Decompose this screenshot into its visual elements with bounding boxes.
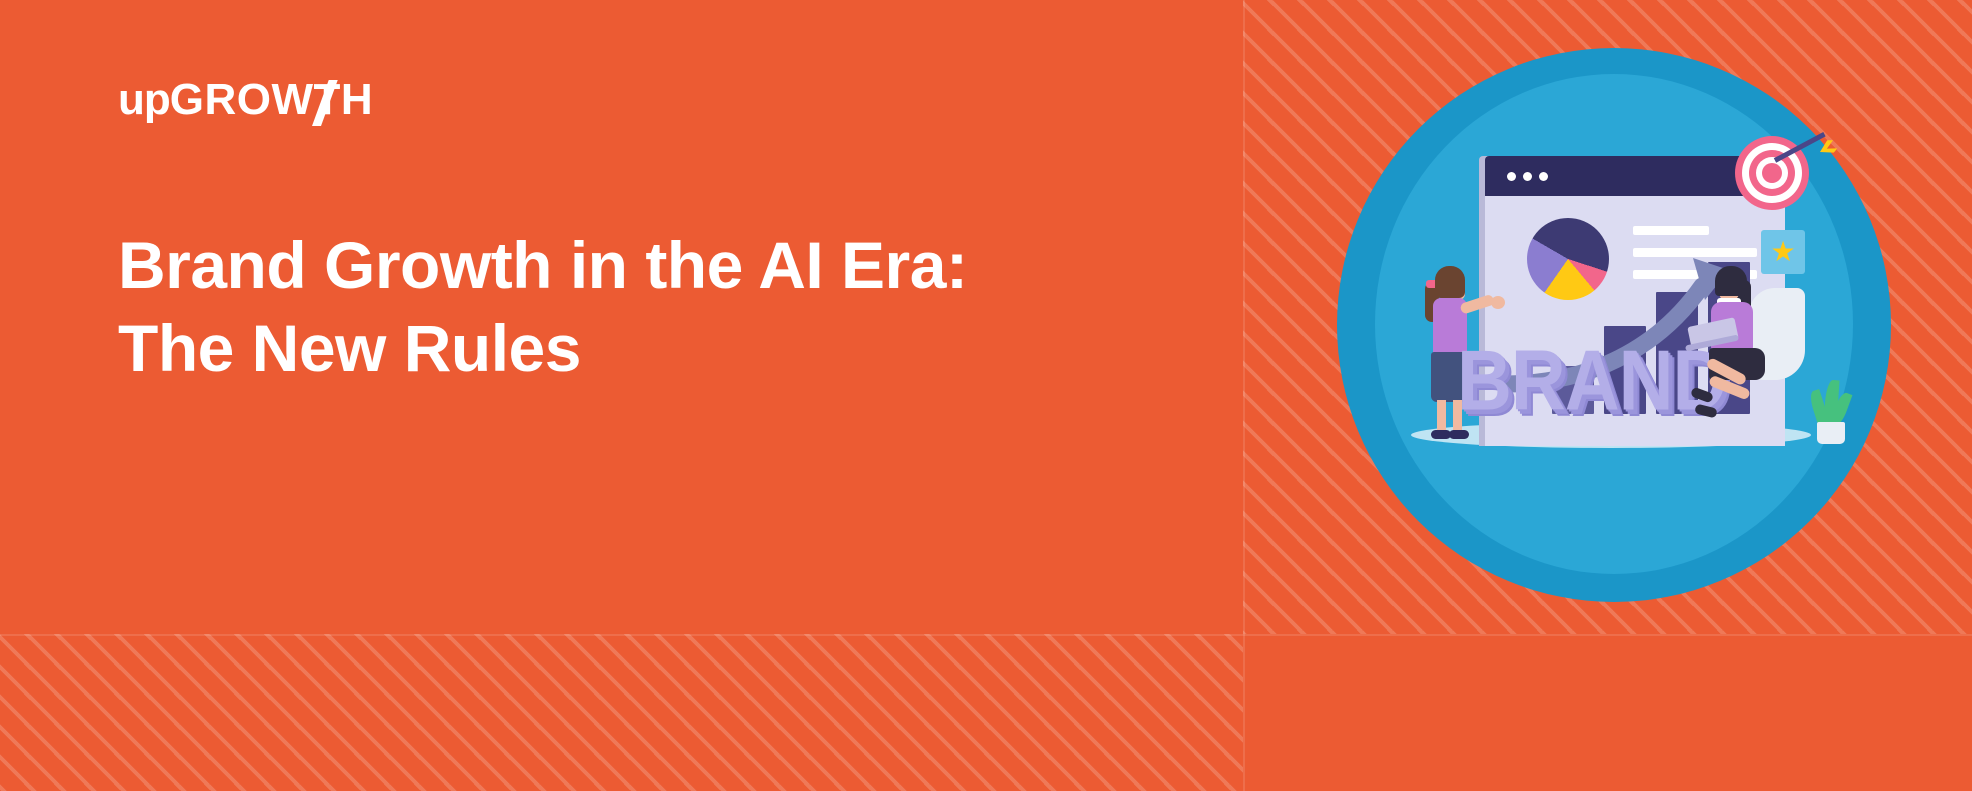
hero-illustration: ★ BRAND [1337, 48, 1891, 602]
headline-line-1: Brand Growth in the AI Era: [118, 224, 1178, 307]
illustration-scene: ★ BRAND [1337, 48, 1891, 602]
shoe [1431, 430, 1451, 439]
browser-dot-icon [1539, 172, 1548, 181]
quadrant-divider-horizontal [0, 634, 1972, 636]
shoe [1449, 430, 1469, 439]
arrow-fletching-icon [1817, 138, 1839, 158]
brand-logo[interactable]: upGROWTH [118, 72, 373, 128]
browser-dot-icon [1507, 172, 1516, 181]
banner-root: upGROWTH Brand Growth in the AI Era: The… [0, 0, 1972, 791]
plant-pot [1817, 422, 1845, 444]
logo-text-w: W [272, 75, 314, 124]
logo-text-up: up [118, 75, 170, 124]
browser-dot-icon [1523, 172, 1532, 181]
hair [1715, 266, 1747, 296]
sitting-woman-figure [1705, 266, 1815, 426]
headline-line-2: The New Rules [118, 307, 1178, 390]
dartboard-target-icon [1735, 136, 1809, 210]
hand [1491, 296, 1505, 309]
logo-text-grow: GRO [170, 75, 272, 124]
potted-plant-icon [1807, 378, 1853, 444]
target-bullseye [1762, 163, 1782, 183]
leg [1437, 400, 1446, 434]
content-column: upGROWTH Brand Growth in the AI Era: The… [0, 0, 1243, 634]
hair [1435, 266, 1465, 298]
quadrant-divider-vertical [1243, 0, 1245, 791]
page-title: Brand Growth in the AI Era: The New Rule… [118, 224, 1178, 390]
stripe-pattern-bottom-left [0, 634, 1243, 791]
